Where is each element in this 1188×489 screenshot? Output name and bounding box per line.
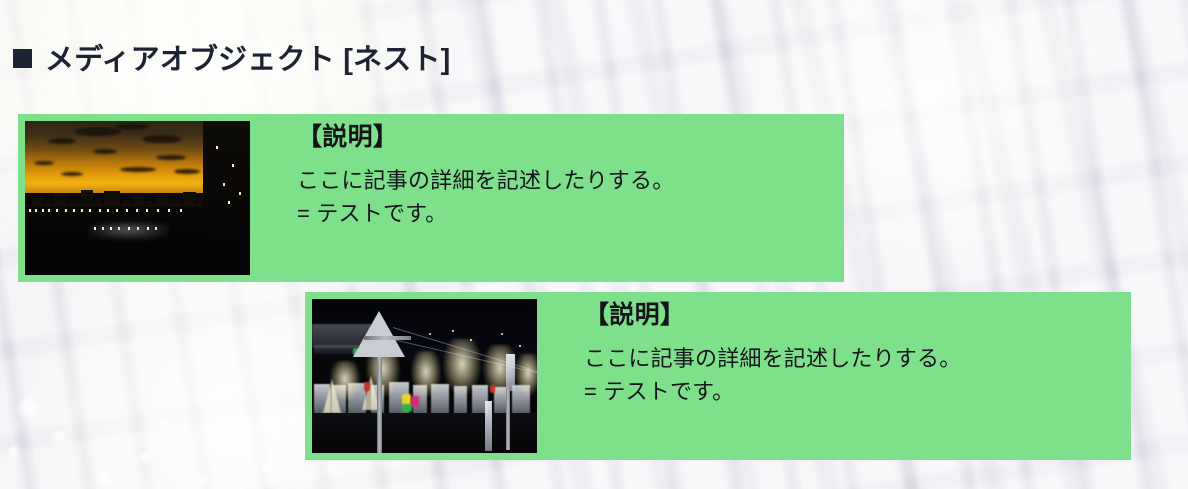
shore-light: [107, 209, 109, 212]
sunset-cloud: [48, 138, 76, 144]
shore-light: [73, 209, 75, 212]
illumination-sparkle: [501, 333, 503, 335]
sunset-building-right: [203, 121, 250, 247]
illuminated-tree: [443, 339, 481, 395]
sunset-cloud: [156, 155, 186, 160]
page-title-text: メディアオブジェクト [ネスト]: [45, 36, 451, 78]
sunset-cloud: [61, 172, 83, 176]
sunset-cloud: [75, 127, 121, 136]
shore-light: [42, 209, 44, 212]
reflected-light: [102, 227, 104, 230]
shore-light: [29, 209, 31, 212]
christmas-tree-decoration: [323, 379, 341, 413]
media-object-level-2: 【説明】 ここに記事の詳細を記述したりする。 = テストです。: [305, 292, 1131, 460]
roadside-pole: [506, 388, 510, 450]
night-road: [312, 413, 537, 453]
media-body-level-1: 【説明】 ここに記事の詳細を記述したりする。 = テストです。: [250, 121, 837, 230]
media-description-line: = テストです。: [297, 197, 837, 230]
shore-light: [48, 209, 50, 212]
shore-light: [116, 209, 118, 212]
window-light: [216, 146, 218, 149]
shore-light: [157, 209, 159, 212]
illumination-sparkle: [452, 330, 454, 332]
sign-crossbar: [364, 336, 411, 340]
illumination-sparkle: [429, 333, 431, 335]
illumination-sparkle: [470, 339, 472, 341]
media-description-line: ここに記事の詳細を記述したりする。: [297, 164, 837, 197]
media-title: 【説明】: [297, 122, 837, 152]
sunset-cloud: [142, 135, 182, 143]
media-image-night-street[interactable]: [312, 299, 537, 453]
reflected-light: [128, 227, 130, 230]
shoreline-light-row: [27, 209, 189, 212]
shore-light: [146, 209, 148, 212]
media-title: 【説明】: [584, 300, 1124, 330]
sunset-cloud: [115, 123, 149, 130]
colored-decoration: [490, 385, 495, 393]
colored-decoration: [402, 404, 412, 412]
media-body-level-2: 【説明】 ここに記事の詳細を記述したりする。 = テストです。: [537, 299, 1124, 408]
reflected-light: [110, 227, 112, 230]
reflected-light-row: [93, 227, 161, 230]
colored-decoration: [364, 382, 370, 391]
shore-light: [56, 209, 58, 212]
photo-night-illumination: [312, 299, 537, 453]
sunset-cloud: [93, 149, 117, 154]
window-light: [228, 201, 230, 204]
media-image-sunset[interactable]: [25, 121, 250, 275]
triangular-road-sign: [353, 311, 405, 357]
media-description-line: ここに記事の詳細を記述したりする。: [584, 342, 1124, 375]
shore-light: [180, 209, 182, 212]
media-description-line: = テストです。: [584, 375, 1124, 408]
reflected-light: [94, 227, 96, 230]
shore-light: [99, 209, 101, 212]
shore-light: [136, 209, 138, 212]
window-light: [232, 164, 234, 167]
reflected-light: [118, 227, 120, 230]
shore-light: [168, 209, 170, 212]
shore-light: [81, 209, 83, 212]
illuminated-tree: [515, 354, 538, 396]
page-title: メディアオブジェクト [ネスト]: [13, 36, 451, 78]
reflected-light: [155, 227, 157, 230]
roadside-marker-post: [485, 401, 492, 452]
reflected-light: [147, 227, 149, 230]
sunset-cloud: [174, 169, 200, 174]
illuminated-signboard: [506, 354, 515, 391]
square-bullet-icon: [13, 49, 32, 68]
page-content: メディアオブジェクト [ネスト]: [0, 0, 1188, 489]
shore-light: [89, 209, 91, 212]
window-light: [239, 192, 241, 195]
media-object-level-1: 【説明】 ここに記事の詳細を記述したりする。 = テストです。: [18, 114, 844, 282]
shore-light: [65, 209, 67, 212]
illuminated-tree: [411, 351, 441, 397]
colored-decoration: [411, 396, 419, 407]
shore-light: [126, 209, 128, 212]
window-light: [223, 183, 225, 186]
water-reflection: [88, 223, 169, 240]
shore-light: [35, 209, 37, 212]
photo-sunset-cityscape: [25, 121, 250, 275]
reflected-light: [137, 227, 139, 230]
sunset-cloud: [34, 161, 54, 165]
